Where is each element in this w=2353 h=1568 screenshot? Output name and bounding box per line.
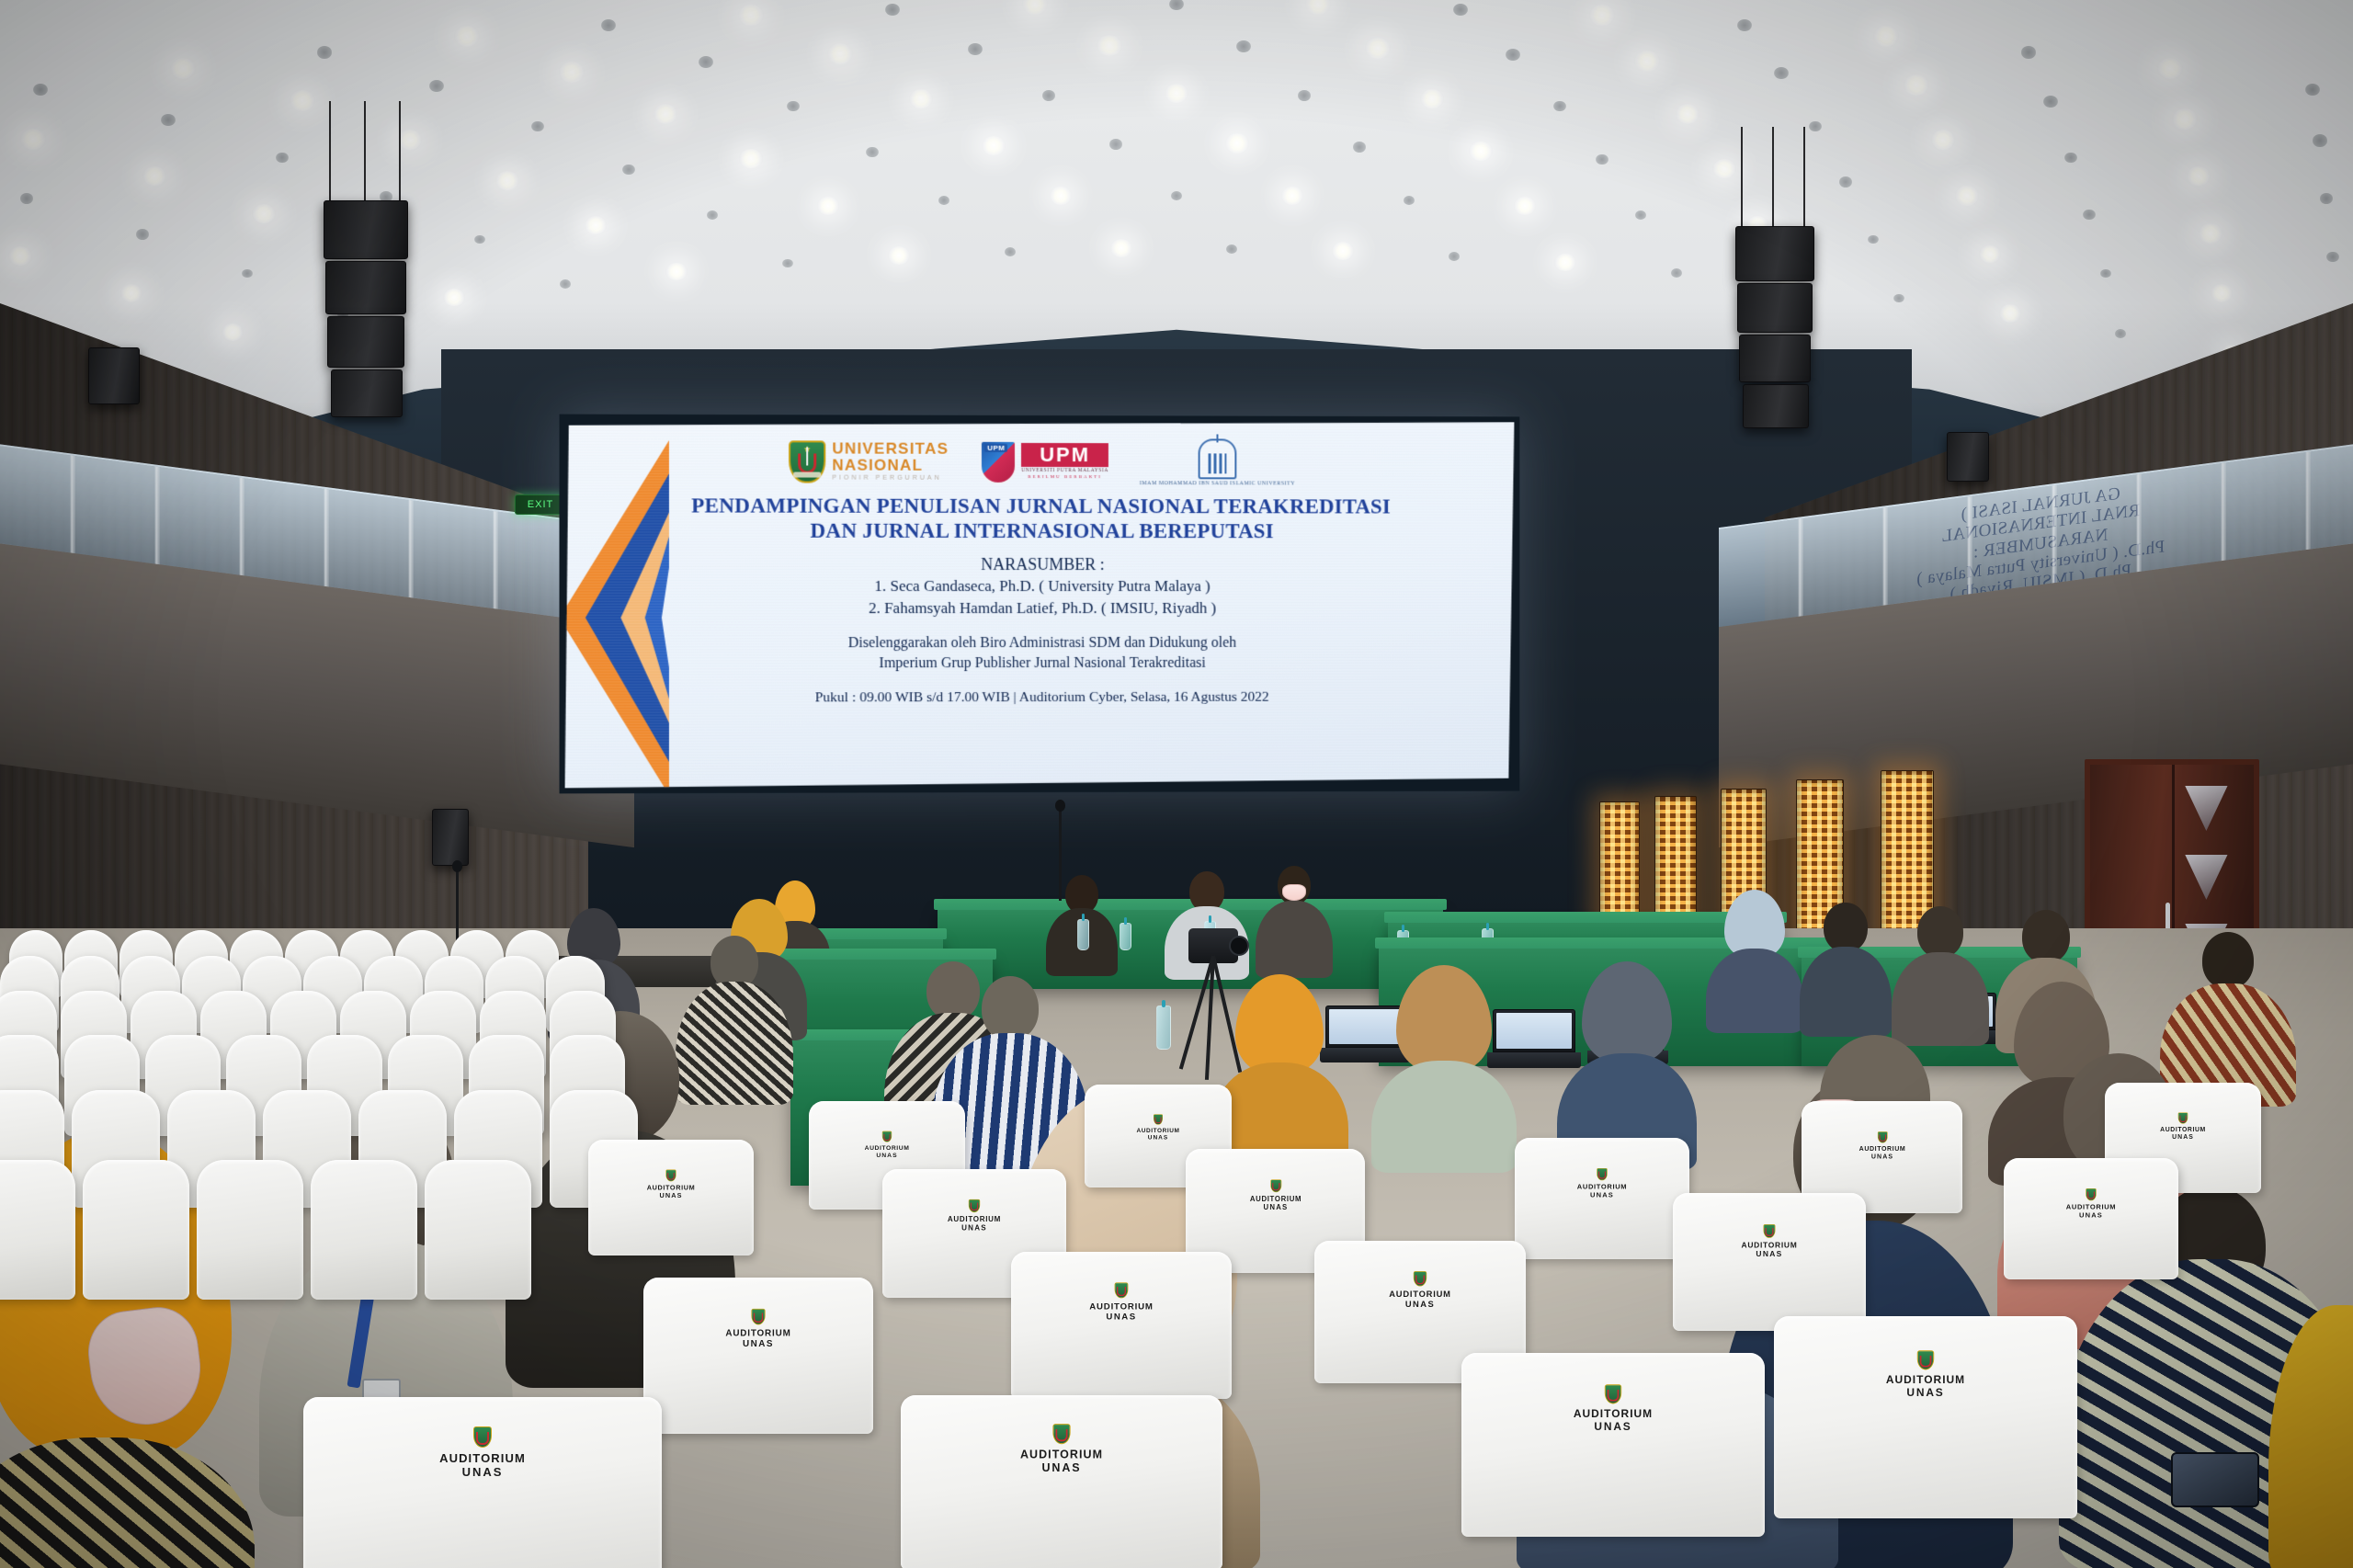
chair-label-line1: AUDITORIUM bbox=[1222, 1194, 1329, 1202]
chair-branding: AUDITORIUMUNAS bbox=[1707, 1224, 1833, 1258]
ceiling-downlight-off bbox=[1404, 196, 1415, 205]
ceiling-downlight-off bbox=[1893, 294, 1904, 303]
chair-label-line2: UNAS bbox=[1473, 1420, 1753, 1433]
ceiling-downlight-off bbox=[161, 114, 176, 126]
ceiling-downlight-on bbox=[559, 62, 585, 83]
chair-label-line1: AUDITORIUM bbox=[1473, 1407, 1753, 1420]
unas-shield-icon bbox=[1597, 1168, 1608, 1180]
slide-logo-row: ★ UNIVERSITAS NASIONAL PIONIR PERGURUAN … bbox=[654, 433, 1427, 492]
unas-shield-icon bbox=[2086, 1188, 2097, 1200]
unas-logo: ★ UNIVERSITAS NASIONAL PIONIR PERGURUAN bbox=[789, 440, 949, 483]
chair-label: AUDITORIUMUNAS bbox=[1344, 1289, 1496, 1309]
slide-organizer: Diselenggarakan oleh Biro Administrasi S… bbox=[654, 632, 1427, 675]
ceiling-downlight-on bbox=[2199, 223, 2222, 243]
chair-branding: AUDITORIUMUNAS bbox=[671, 1309, 846, 1348]
auditorium-scene: GA JURNAL ISASI ) RNAL INTERNASIONAL NAR… bbox=[0, 0, 2353, 1568]
slide-title: PENDAMPINGAN PENULISAN JURNAL NASIONAL T… bbox=[654, 494, 1427, 543]
audience-chair[interactable]: AUDITORIUMUNAS bbox=[588, 1140, 754, 1256]
ceiling-downlight-off bbox=[1042, 90, 1055, 100]
ceiling-downlight-on bbox=[654, 104, 677, 123]
ceiling-downlight-on bbox=[1420, 89, 1444, 108]
chair-branding: AUDITORIUMUNAS bbox=[1786, 1350, 2065, 1398]
ceiling-downlight-off bbox=[20, 193, 33, 203]
ceiling-downlight-on bbox=[1110, 239, 1132, 257]
unas-logo-line1: UNIVERSITAS bbox=[832, 440, 949, 457]
chair-label: AUDITORIUMUNAS bbox=[1222, 1194, 1329, 1210]
chair-label: AUDITORIUMUNAS bbox=[1786, 1373, 2065, 1399]
chair-branding: AUDITORIUMUNAS bbox=[1344, 1271, 1496, 1309]
attendee bbox=[1895, 906, 1985, 1040]
ceiling-downlight-off bbox=[968, 43, 983, 55]
ceiling-downlight-off bbox=[1298, 90, 1311, 100]
chair-label-line2: UNAS bbox=[1222, 1202, 1329, 1210]
ceiling-downlight-on bbox=[1469, 142, 1493, 161]
chair-label-line2: UNAS bbox=[1552, 1190, 1653, 1199]
chair-branding: AUDITORIUMUNAS bbox=[1121, 1114, 1195, 1141]
slide-organizer-line2: Imperium Grup Publisher Jurnal Nasional … bbox=[654, 653, 1427, 675]
chair-branding: AUDITORIUMUNAS bbox=[1040, 1282, 1203, 1321]
chair-label: AUDITORIUMUNAS bbox=[1121, 1127, 1195, 1141]
chair-label-line1: AUDITORIUM bbox=[2040, 1203, 2142, 1211]
chair-branding: AUDITORIUMUNAS bbox=[1838, 1131, 1926, 1160]
ceiling-downlight-off bbox=[136, 229, 149, 239]
chair-label-line1: AUDITORIUM bbox=[671, 1328, 846, 1338]
unas-shield-icon bbox=[473, 1426, 492, 1448]
chair-branding: AUDITORIUMUNAS bbox=[847, 1131, 927, 1159]
unas-shield-icon bbox=[1764, 1224, 1776, 1238]
ceiling-downlight-on bbox=[2187, 166, 2211, 186]
wall-speaker-right bbox=[1947, 432, 1989, 482]
unas-shield-icon bbox=[2178, 1113, 2188, 1124]
chair-label: AUDITORIUMUNAS bbox=[1552, 1183, 1653, 1199]
chair-label-line2: UNAS bbox=[2040, 1210, 2142, 1219]
imsiu-mark-icon bbox=[1199, 438, 1237, 479]
audience-chair[interactable]: AUDITORIUMUNAS bbox=[901, 1395, 1222, 1568]
empty-chair[interactable] bbox=[311, 1160, 417, 1300]
slide-speaker-1: 1. Seca Gandaseca, Ph.D. ( University Pu… bbox=[654, 575, 1427, 597]
chair-label: AUDITORIUMUNAS bbox=[303, 1451, 662, 1479]
ceiling-downlight-on bbox=[2172, 108, 2198, 130]
chair-label-line2: UNAS bbox=[303, 1465, 662, 1479]
audience-chair[interactable]: AUDITORIUMUNAS bbox=[1774, 1316, 2077, 1518]
slide-title-line2: DAN JURNAL INTERNASIONAL BEREPUTASI bbox=[654, 518, 1427, 544]
chair-branding: AUDITORIUMUNAS bbox=[1552, 1168, 1653, 1199]
ceiling-downlight-on bbox=[888, 246, 910, 265]
attendee-hijab-grey bbox=[1563, 961, 1691, 1164]
empty-chair[interactable] bbox=[0, 1160, 75, 1300]
upm-crest-icon: UPM bbox=[980, 440, 1017, 484]
slide-speaker-list: 1. Seca Gandaseca, Ph.D. ( University Pu… bbox=[654, 575, 1427, 620]
ceiling-downlight-off bbox=[2326, 252, 2339, 262]
ceiling-downlight-on bbox=[1097, 35, 1122, 56]
chair-label: AUDITORIUMUNAS bbox=[847, 1144, 927, 1159]
attendee bbox=[1803, 903, 1888, 1031]
unas-shield-icon bbox=[665, 1170, 676, 1182]
ceiling-downlight-off bbox=[1005, 247, 1016, 256]
chair-label-line2: UNAS bbox=[1121, 1133, 1195, 1141]
chair-label-line1: AUDITORIUM bbox=[625, 1184, 718, 1191]
slide-organizer-line1: Diselenggarakan oleh Biro Administrasi S… bbox=[654, 632, 1427, 653]
ceiling-downlight-on bbox=[142, 166, 166, 186]
ceiling-downlight-on bbox=[290, 90, 315, 111]
ceiling-downlight-off bbox=[2043, 96, 2058, 108]
ceiling-downlight-on bbox=[1554, 254, 1576, 272]
upm-motto: BERILMU BERBAKTI bbox=[1021, 474, 1108, 482]
ceiling-downlight-off bbox=[866, 147, 879, 157]
upm-logo: UPM UPM UNIVERSITI PUTRA MALAYSIA BERILM… bbox=[980, 440, 1108, 484]
upm-crest-tag: UPM bbox=[984, 444, 1007, 452]
ceiling-downlight-off bbox=[1171, 191, 1182, 200]
chair-label-line1: AUDITORIUM bbox=[2142, 1126, 2224, 1133]
chair-label-line1: AUDITORIUM bbox=[907, 1448, 1216, 1460]
upm-wordmark: UPM bbox=[1021, 443, 1108, 467]
ceiling-downlight-off bbox=[2320, 193, 2333, 203]
ceiling-downlight-off bbox=[1109, 139, 1122, 149]
audience-chair[interactable]: AUDITORIUMUNAS bbox=[1515, 1138, 1689, 1259]
chair-label-line1: AUDITORIUM bbox=[1344, 1289, 1496, 1299]
ceiling-downlight-off bbox=[2305, 84, 2320, 96]
chair-label-line2: UNAS bbox=[1838, 1152, 1926, 1159]
audience-chair[interactable]: AUDITORIUMUNAS bbox=[303, 1397, 662, 1568]
unas-shield-icon bbox=[1270, 1179, 1281, 1192]
chair-label-line2: UNAS bbox=[1707, 1249, 1833, 1258]
empty-chair[interactable] bbox=[83, 1160, 189, 1300]
unas-shield-icon bbox=[882, 1131, 892, 1142]
audience-chair[interactable]: AUDITORIUMUNAS bbox=[1673, 1193, 1866, 1331]
chair-branding: AUDITORIUMUNAS bbox=[907, 1425, 1216, 1475]
ceiling-downlight-on bbox=[739, 149, 763, 168]
chair-label: AUDITORIUMUNAS bbox=[671, 1328, 846, 1349]
ceiling-downlight-on bbox=[1514, 197, 1536, 215]
chair-label-line2: UNAS bbox=[847, 1151, 927, 1158]
water-bottle bbox=[1156, 1006, 1171, 1050]
audience-chair[interactable]: AUDITORIUMUNAS bbox=[2004, 1158, 2178, 1279]
chair-label: AUDITORIUMUNAS bbox=[2142, 1126, 2224, 1141]
ceiling-downlight-on bbox=[1979, 245, 2001, 264]
chair-label-line2: UNAS bbox=[671, 1338, 846, 1348]
ceiling-downlight-on bbox=[1904, 74, 1929, 96]
panelist-right bbox=[1257, 866, 1331, 976]
ceiling-downlight-on bbox=[1225, 133, 1249, 153]
slide-speaker-2: 2. Fahamsyah Hamdan Latief, Ph.D. ( IMSI… bbox=[654, 597, 1427, 619]
ceiling-downlight-off bbox=[1449, 252, 1460, 261]
ceiling-downlight-on bbox=[817, 197, 839, 215]
ceiling-downlight-off bbox=[885, 4, 900, 16]
projection-screen: ★ UNIVERSITAS NASIONAL PIONIR PERGURUAN … bbox=[560, 415, 1520, 794]
ceiling-downlight-off bbox=[317, 46, 332, 58]
audience-chair[interactable]: AUDITORIUMUNAS bbox=[1461, 1353, 1765, 1537]
ceiling-downlight-off bbox=[707, 210, 718, 220]
ceiling-downlight-on bbox=[1332, 242, 1354, 260]
unas-shield-icon bbox=[1877, 1131, 1887, 1142]
chair-branding: AUDITORIUMUNAS bbox=[917, 1199, 1031, 1232]
chair-label: AUDITORIUMUNAS bbox=[2040, 1203, 2142, 1219]
empty-chair[interactable] bbox=[425, 1160, 531, 1300]
chair-label-line2: UNAS bbox=[1786, 1386, 2065, 1399]
imsiu-subtitle: IMAM MOHAMMAD IBN SAUD ISLAMIC UNIVERSIT… bbox=[1140, 481, 1295, 486]
chair-label-line2: UNAS bbox=[2142, 1133, 2224, 1141]
slide-title-line1: PENDAMPINGAN PENULISAN JURNAL NASIONAL T… bbox=[654, 494, 1427, 519]
chair-label: AUDITORIUMUNAS bbox=[1473, 1407, 1753, 1433]
chair-label-line1: AUDITORIUM bbox=[847, 1144, 927, 1152]
unas-logo-line3: PIONIR PERGURUAN bbox=[832, 474, 949, 483]
unas-shield-icon bbox=[1917, 1350, 1934, 1369]
slide-schedule: Pukul : 09.00 WIB s/d 17.00 WIB | Audito… bbox=[654, 689, 1427, 707]
microphone-stand-stage bbox=[1059, 809, 1062, 901]
ceiling-downlight-on bbox=[252, 204, 276, 223]
chair-label: AUDITORIUMUNAS bbox=[907, 1448, 1216, 1474]
chair-label-line1: AUDITORIUM bbox=[1786, 1373, 2065, 1386]
foreground-attendee-yellow-edge bbox=[2287, 1305, 2353, 1568]
chair-label-line1: AUDITORIUM bbox=[1552, 1183, 1653, 1191]
ceiling-downlight-on bbox=[585, 216, 607, 234]
water-bottle bbox=[1077, 919, 1089, 950]
ceiling-downlight-on bbox=[398, 130, 422, 149]
ceiling-downlight-off bbox=[1353, 142, 1366, 152]
unas-shield-icon bbox=[1605, 1384, 1621, 1403]
audience-chair[interactable]: AUDITORIUMUNAS bbox=[1011, 1252, 1232, 1399]
ceiling-downlight-off bbox=[2313, 134, 2327, 146]
chair-label-line1: AUDITORIUM bbox=[1040, 1301, 1203, 1311]
ceiling-downlight-on bbox=[1931, 130, 1955, 149]
chair-label-line2: UNAS bbox=[907, 1461, 1216, 1474]
ceiling-downlight-off bbox=[2083, 210, 2096, 220]
ceiling-downlight-on bbox=[2211, 284, 2233, 302]
slide-content: ★ UNIVERSITAS NASIONAL PIONIR PERGURUAN … bbox=[565, 420, 1515, 707]
stage-speaker-left bbox=[432, 809, 469, 866]
ceiling-downlight-off bbox=[1453, 4, 1468, 16]
mobile-phone[interactable] bbox=[2171, 1452, 2259, 1507]
unas-shield-icon bbox=[751, 1309, 765, 1324]
unas-shield-icon bbox=[969, 1199, 980, 1212]
unas-shield-icon: ★ bbox=[789, 440, 825, 483]
ceiling-downlight-off bbox=[1506, 49, 1520, 61]
ceiling-downlight-off bbox=[2064, 153, 2077, 163]
empty-chair[interactable] bbox=[197, 1160, 303, 1300]
ceiling-downlight-off bbox=[474, 235, 485, 244]
chair-branding: AUDITORIUMUNAS bbox=[1473, 1384, 1753, 1432]
ceiling-downlight-on bbox=[909, 89, 933, 108]
unas-shield-icon bbox=[1414, 1271, 1427, 1287]
unas-shield-icon bbox=[1115, 1282, 1129, 1298]
unas-shield-icon bbox=[1154, 1114, 1163, 1125]
chair-branding: AUDITORIUMUNAS bbox=[2040, 1188, 2142, 1219]
ceiling-downlight-on bbox=[1676, 104, 1699, 123]
ceiling-downlight-on bbox=[1050, 187, 1072, 205]
chair-label-line1: AUDITORIUM bbox=[1707, 1241, 1833, 1250]
ceiling-downlight-off bbox=[2021, 46, 2036, 58]
chair-branding: AUDITORIUMUNAS bbox=[1222, 1179, 1329, 1210]
chair-branding: AUDITORIUMUNAS bbox=[625, 1170, 718, 1199]
chair-branding: AUDITORIUMUNAS bbox=[303, 1426, 662, 1479]
attendee-hijab-light bbox=[1710, 890, 1800, 1028]
attendee-hijab-tan bbox=[1375, 965, 1513, 1167]
chair-label: AUDITORIUMUNAS bbox=[625, 1184, 718, 1199]
chair-label: AUDITORIUMUNAS bbox=[1040, 1301, 1203, 1321]
ceiling-downlight-on bbox=[827, 43, 853, 64]
chair-label-line2: UNAS bbox=[1344, 1299, 1496, 1309]
ceiling-downlight-off bbox=[1553, 101, 1566, 111]
ceiling-downlight-off bbox=[1839, 176, 1852, 187]
ceiling-downlight-on bbox=[120, 284, 142, 302]
ceiling-downlight-on bbox=[738, 5, 764, 26]
chair-label-line1: AUDITORIUM bbox=[1121, 1127, 1195, 1134]
chair-branding: AUDITORIUMUNAS bbox=[2142, 1113, 2224, 1141]
ceiling-downlight-off bbox=[787, 101, 800, 111]
imsiu-logo: IMAM MOHAMMAD IBN SAUD ISLAMIC UNIVERSIT… bbox=[1140, 438, 1295, 486]
chair-label: AUDITORIUMUNAS bbox=[1838, 1144, 1926, 1159]
chair-label-line1: AUDITORIUM bbox=[1838, 1144, 1926, 1152]
unas-shield-icon bbox=[1052, 1425, 1070, 1445]
ceiling-downlight-off bbox=[1671, 268, 1682, 278]
chair-label-line1: AUDITORIUM bbox=[303, 1451, 662, 1465]
chair-label-line1: AUDITORIUM bbox=[917, 1215, 1031, 1223]
water-bottle bbox=[1120, 923, 1131, 950]
chair-label: AUDITORIUMUNAS bbox=[917, 1215, 1031, 1233]
chair-label-line2: UNAS bbox=[917, 1223, 1031, 1232]
audience-chair[interactable]: AUDITORIUMUNAS bbox=[643, 1278, 873, 1434]
ceiling-downlight-on bbox=[1712, 159, 1736, 178]
wall-speaker-left bbox=[88, 347, 140, 404]
chair-label: AUDITORIUMUNAS bbox=[1707, 1241, 1833, 1259]
upm-subtitle: UNIVERSITI PUTRA MALAYSIA bbox=[1021, 467, 1108, 474]
ceiling-downlight-off bbox=[276, 153, 289, 163]
unas-logo-line2: NASIONAL bbox=[832, 458, 949, 474]
slide-speakers-heading: NARASUMBER : bbox=[654, 555, 1427, 574]
chair-label-line2: UNAS bbox=[1040, 1311, 1203, 1321]
chair-label-line2: UNAS bbox=[625, 1191, 718, 1199]
